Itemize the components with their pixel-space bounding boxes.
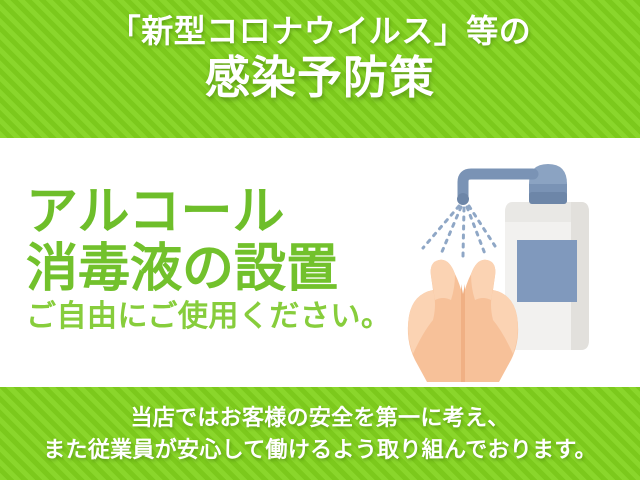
cupped-hands-icon bbox=[408, 260, 518, 382]
pump-nozzle-tip bbox=[457, 193, 469, 205]
footer-line-1: 当店ではお客様の安全を第一に考え、 bbox=[130, 402, 509, 434]
left-hand-thumb-highlight bbox=[431, 260, 455, 300]
main-headline-line-2: 消毒液の設置 bbox=[26, 241, 391, 297]
spray-droplets bbox=[423, 206, 495, 256]
pump-head-icon bbox=[457, 164, 567, 205]
header-line-2: 感染予防策 bbox=[205, 53, 435, 103]
footer-line-2: また従業員が安心して働けるよう取り組んでおります。 bbox=[43, 434, 597, 466]
main-text-block: アルコール 消毒液の設置 ご自由にご使用ください。 bbox=[0, 184, 391, 340]
main-subline: ご自由にご使用ください。 bbox=[26, 299, 391, 335]
illustration-area bbox=[391, 138, 640, 387]
hands-center-cleft bbox=[461, 284, 465, 382]
poster-main-panel: アルコール 消毒液の設置 ご自由にご使用ください。 bbox=[0, 138, 640, 387]
pump-collar-ring bbox=[529, 192, 567, 204]
header-line-1: 「新型コロナウイルス」等の bbox=[109, 14, 532, 49]
poster-root: 「新型コロナウイルス」等の 感染予防策 アルコール 消毒液の設置 ご自由にご使用… bbox=[0, 0, 640, 480]
spray-line-3 bbox=[463, 208, 464, 256]
poster-header: 「新型コロナウイルス」等の 感染予防策 bbox=[0, 0, 640, 138]
poster-footer: 当店ではお客様の安全を第一に考え、 また従業員が安心して働けるよう取り組んでおり… bbox=[0, 387, 640, 480]
right-hand-thumb-highlight bbox=[471, 260, 495, 300]
pump-nozzle-arm bbox=[463, 174, 533, 198]
main-headline-line-1: アルコール bbox=[26, 184, 391, 240]
hand-sanitizer-illustration bbox=[393, 144, 607, 384]
bottle-label bbox=[517, 240, 577, 302]
